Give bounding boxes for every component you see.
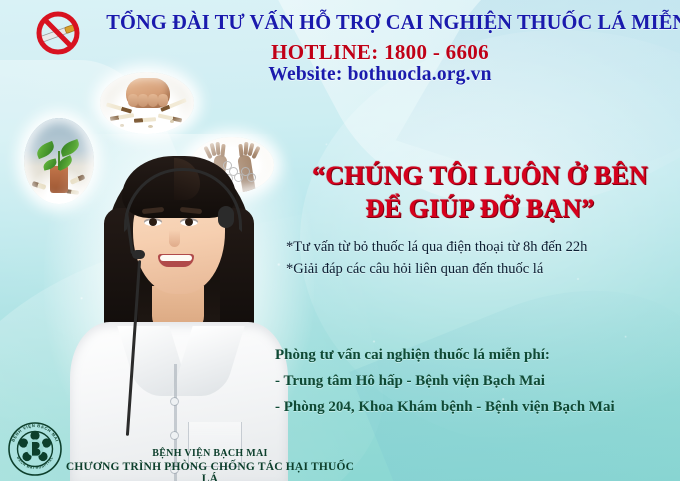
clinic-address-block: Phòng tư vấn cai nghiện thuốc lá miễn ph… — [275, 343, 677, 420]
footer-organization: BỆNH VIỆN BẠCH MAI — [60, 448, 360, 459]
page-title: TỔNG ĐÀI TƯ VẤN HỖ TRỢ CAI NGHIỆN THUỐC … — [106, 10, 649, 35]
cigarette — [110, 113, 134, 121]
address-line: - Phòng 204, Khoa Khám bệnh - Bệnh viện … — [275, 395, 677, 421]
address-line: - Trung tâm Hô hấp - Bệnh viện Bạch Mai — [275, 369, 677, 395]
smoking-cessation-hotline-poster: TỔNG ĐÀI TƯ VẤN HỖ TRỢ CAI NGHIỆN THUỐC … — [0, 0, 680, 481]
knuckle — [138, 94, 148, 107]
service-bullet-item: *Giải đáp các câu hỏi liên quan đến thuố… — [286, 258, 678, 280]
call-center-nurse-photo — [70, 150, 288, 481]
slogan-line-2: ĐỂ GIÚP ĐỠ BẠN” — [282, 193, 678, 226]
footer-program: CHƯƠNG TRÌNH PHÒNG CHỐNG TÁC HẠI THUỐC L… — [60, 461, 360, 481]
slogan-line-1: “CHÚNG TÔI LUÔN Ở BÊN — [282, 160, 678, 193]
cigarette — [134, 117, 156, 123]
bach-mai-hospital-seal-icon: BỆNH VIỆN BẠCH MAI BACH MAI HOSPITAL — [6, 420, 64, 478]
svg-text:BACH MAI HOSPITAL: BACH MAI HOSPITAL — [16, 456, 54, 470]
knuckle — [148, 94, 158, 107]
tobacco-crumb — [120, 124, 124, 127]
smiling-mouth — [158, 254, 194, 267]
cigarette — [158, 114, 182, 123]
clenched-fist — [126, 78, 170, 108]
cigarette — [106, 102, 132, 113]
knuckle — [128, 94, 138, 107]
slogan: “CHÚNG TÔI LUÔN Ở BÊN ĐỂ GIÚP ĐỠ BẠN” — [282, 160, 678, 226]
footer-text-block: BỆNH VIỆN BẠCH MAI CHƯƠNG TRÌNH PHÒNG CH… — [60, 448, 360, 481]
no-smoking-icon — [30, 8, 88, 58]
tobacco-crumb — [148, 125, 153, 128]
hotline-number: HOTLINE: 1800 - 6606 — [120, 40, 640, 65]
website-url: Website: bothuocla.org.vn — [120, 64, 640, 86]
headset-microphone — [132, 250, 145, 259]
service-bullet-item: *Tư vấn từ bỏ thuốc lá qua điện thoại từ… — [286, 236, 678, 258]
nose — [169, 230, 180, 247]
cigarette — [160, 98, 187, 112]
knuckle — [158, 94, 168, 107]
coat-button — [171, 398, 178, 405]
fist-crushing-cigarettes-photo — [100, 72, 194, 134]
service-bullet-list: *Tư vấn từ bỏ thuốc lá qua điện thoại từ… — [286, 236, 678, 280]
headset-earcup-icon — [218, 206, 234, 228]
address-heading: Phòng tư vấn cai nghiện thuốc lá miễn ph… — [275, 343, 677, 369]
teeth — [160, 255, 192, 261]
coat-button — [171, 432, 178, 439]
tobacco-crumb — [170, 120, 174, 123]
